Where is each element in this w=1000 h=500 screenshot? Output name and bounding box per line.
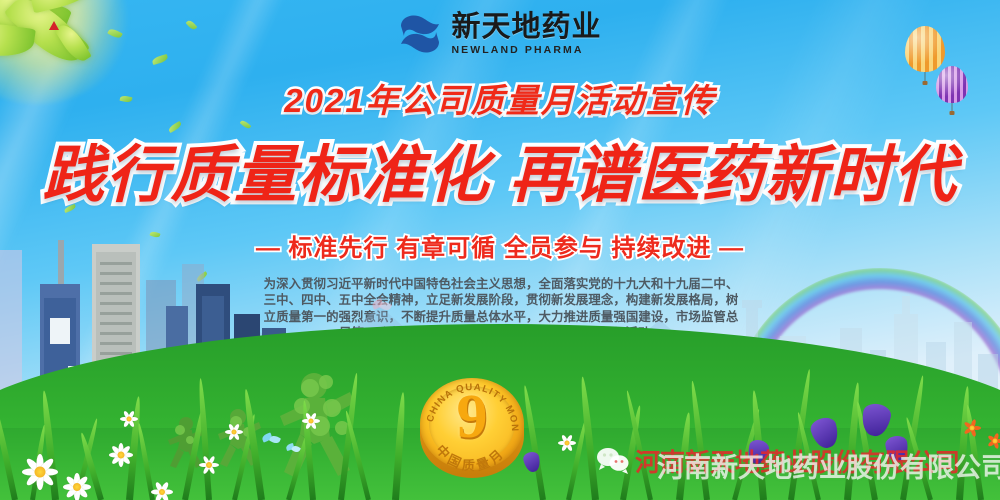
orange-flower — [962, 418, 982, 438]
white-daisy — [222, 420, 246, 444]
white-daisy — [556, 432, 578, 454]
white-daisy — [196, 452, 222, 478]
medal-center-number: 9 — [416, 386, 528, 448]
white-daisy — [148, 478, 176, 500]
watermark: 河南新天地药业股份有限公司 河南新天地药业股份有限公司 — [596, 440, 635, 480]
logo-company-name-cn: 新天地药业 — [451, 13, 601, 42]
logo-accent-triangle-icon — [49, 21, 59, 30]
wechat-icon — [596, 446, 630, 474]
brand-logo: 新天地药业 NEWLAND PHARMA — [0, 12, 1000, 56]
white-daisy — [300, 410, 322, 432]
promotional-banner: 新天地药业 NEWLAND PHARMA 2021年公司质量月活动宣传 践行质量… — [0, 0, 1000, 500]
white-daisy — [18, 450, 62, 494]
white-daisy — [118, 408, 140, 430]
banner-main-headline: 践行质量标准化 再谱医药新时代 — [0, 124, 1000, 214]
white-daisy — [60, 470, 94, 500]
watermark-company-white: 河南新天地药业股份有限公司 — [657, 446, 1000, 485]
logo-company-name-en: NEWLAND PHARMA — [451, 45, 583, 56]
white-daisy — [106, 440, 136, 470]
china-quality-month-medal: CHINA QUALITY MONTH 中国质量月 9 — [416, 372, 528, 480]
newland-wave-logo-icon — [398, 12, 442, 56]
banner-kicker: 2021年公司质量月活动宣传 — [0, 74, 1000, 122]
